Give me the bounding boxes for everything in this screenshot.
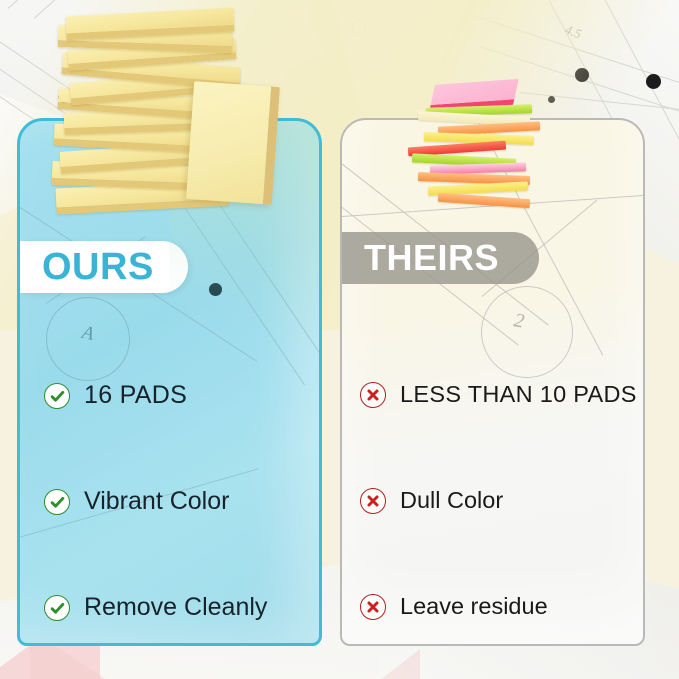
ours-heading-banner: OURS bbox=[20, 241, 188, 293]
theirs-heading-banner: THEIRS bbox=[342, 232, 539, 284]
check-circle-icon bbox=[44, 489, 70, 515]
list-item-label: LESS THAN 10 PADS bbox=[400, 382, 637, 408]
ours-heading-text: OURS bbox=[42, 248, 154, 286]
cross-circle-icon bbox=[360, 594, 386, 620]
cross-circle-icon bbox=[360, 488, 386, 514]
list-item[interactable]: Leave residue bbox=[342, 554, 643, 644]
list-item[interactable]: Vibrant Color bbox=[20, 449, 319, 555]
blueprint-dot bbox=[575, 68, 589, 82]
list-item-label: Vibrant Color bbox=[84, 488, 229, 516]
check-circle-icon bbox=[44, 595, 70, 621]
cross-circle-icon bbox=[360, 382, 386, 408]
ours-feature-list: 16 PADS Vibrant Color bbox=[20, 343, 319, 643]
yellow-sticky-note-stack bbox=[44, 8, 294, 228]
sticky-pad-front bbox=[186, 81, 280, 205]
list-item[interactable]: Dull Color bbox=[342, 448, 643, 554]
theirs-feature-list: LESS THAN 10 PADS Dull Color bbox=[342, 342, 643, 644]
list-item-label: Remove Cleanly bbox=[84, 594, 267, 622]
list-item-label: Dull Color bbox=[400, 488, 503, 514]
blueprint-circle bbox=[352, 20, 366, 34]
pink-accent-shape bbox=[330, 649, 420, 679]
comparison-infographic: 4.5 A OURS bbox=[0, 0, 679, 679]
sticky-pad bbox=[438, 193, 530, 208]
blueprint-dot bbox=[646, 74, 661, 89]
list-item[interactable]: Remove Cleanly bbox=[20, 555, 319, 643]
list-item-label: Leave residue bbox=[400, 594, 548, 620]
neon-sticky-pad-stack bbox=[404, 80, 564, 220]
panel-blueprint-dot bbox=[209, 283, 222, 296]
check-circle-icon bbox=[44, 383, 70, 409]
list-item[interactable]: 16 PADS bbox=[20, 343, 319, 449]
theirs-heading-text: THEIRS bbox=[364, 240, 499, 276]
list-item-label: 16 PADS bbox=[84, 382, 187, 410]
list-item[interactable]: LESS THAN 10 PADS bbox=[342, 342, 643, 448]
